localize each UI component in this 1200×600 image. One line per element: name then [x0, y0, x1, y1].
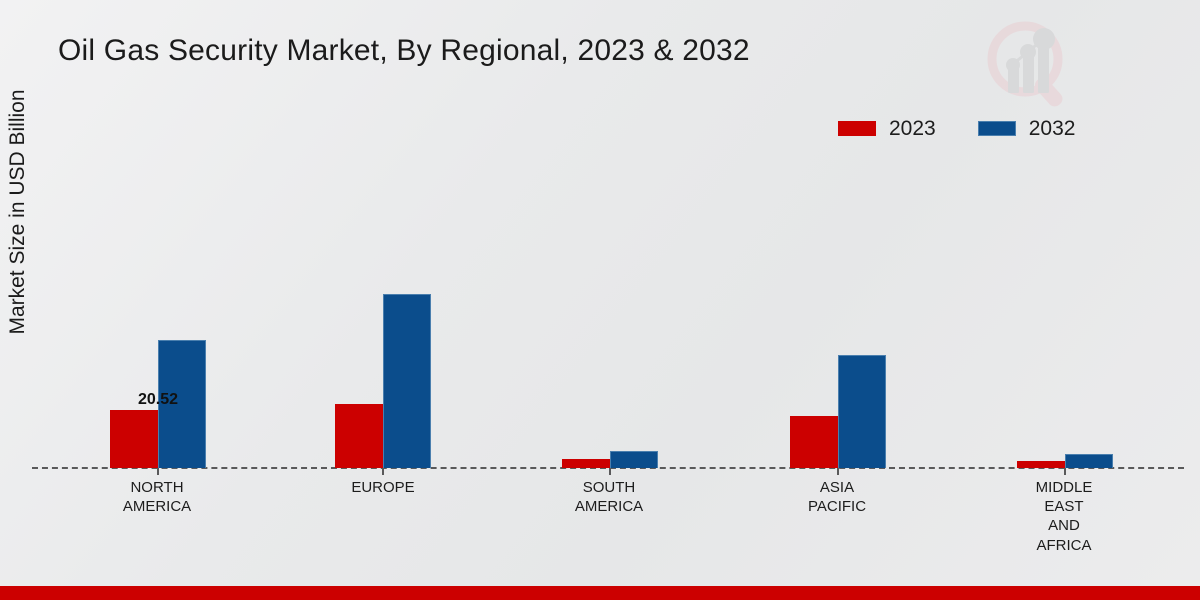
- category-label-europe: EUROPE: [288, 478, 478, 497]
- bar-value-north-america-2023: 20.52: [110, 392, 206, 408]
- bar-asia-pacific-2023[interactable]: [790, 416, 838, 468]
- category-label-north-america: NORTH AMERICA: [62, 478, 252, 516]
- bar-north-america-2023[interactable]: [110, 410, 158, 468]
- category-label-line: SOUTH: [514, 478, 704, 497]
- category-label-line: MIDDLE: [969, 478, 1159, 497]
- category-label-middle-east-and-africa: MIDDLE EAST AND AFRICA: [969, 478, 1159, 555]
- category-label-asia-pacific: ASIA PACIFIC: [742, 478, 932, 516]
- axis-tick-middle-east-and-africa: [1064, 468, 1066, 475]
- axis-tick-asia-pacific: [837, 468, 839, 475]
- bar-south-america-2023[interactable]: [562, 459, 610, 468]
- category-label-line: AND: [969, 516, 1159, 535]
- bar-group-europe: [335, 208, 431, 468]
- bar-europe-2023[interactable]: [335, 404, 383, 468]
- bar-middle-east-and-africa-2032[interactable]: [1065, 454, 1113, 468]
- category-label-south-america: SOUTH AMERICA: [514, 478, 704, 516]
- category-label-line: PACIFIC: [742, 497, 932, 516]
- axis-tick-north-america: [157, 468, 159, 475]
- chart-canvas: Oil Gas Security Market, By Regional, 20…: [0, 0, 1200, 600]
- bar-group-middle-east-and-africa: [1017, 208, 1113, 468]
- bar-middle-east-and-africa-2023[interactable]: [1017, 461, 1065, 468]
- bar-south-america-2032[interactable]: [610, 451, 658, 468]
- bar-europe-2032[interactable]: [383, 294, 431, 468]
- bar-group-south-america: [562, 208, 658, 468]
- category-label-line: AMERICA: [62, 497, 252, 516]
- axis-tick-south-america: [609, 468, 611, 475]
- bar-group-asia-pacific: [790, 208, 886, 468]
- bottom-accent-stripe: [0, 586, 1200, 600]
- category-label-line: EAST: [969, 497, 1159, 516]
- category-label-line: NORTH: [62, 478, 252, 497]
- bar-group-north-america: 20.52: [110, 208, 206, 468]
- category-label-line: AFRICA: [969, 536, 1159, 555]
- plot-area: 20.52 NORTH AMERICA EUROPE SOUTH AMERICA: [0, 0, 1200, 600]
- category-label-line: AMERICA: [514, 497, 704, 516]
- category-label-line: ASIA: [742, 478, 932, 497]
- bar-asia-pacific-2032[interactable]: [838, 355, 886, 468]
- axis-tick-europe: [382, 468, 384, 475]
- category-label-line: EUROPE: [288, 478, 478, 497]
